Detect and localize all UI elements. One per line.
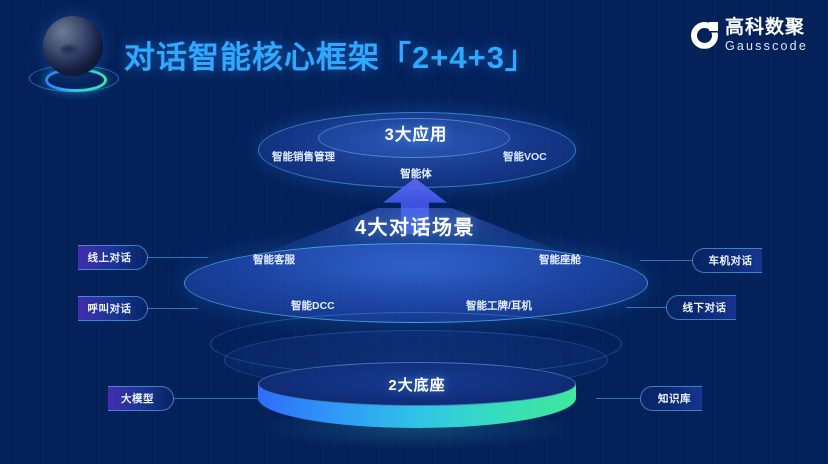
application-item-voc: 智能VOC (503, 149, 547, 164)
side-label-offline-dialog[interactable]: 线下对话 (666, 295, 736, 320)
scenarios-title: 4大对话场景 (184, 211, 646, 240)
side-label-large-model[interactable]: 大模型 (108, 386, 174, 411)
side-label-call-dialog[interactable]: 呼叫对话 (78, 296, 148, 321)
applications-title: 3大应用 (258, 121, 574, 145)
connector-knowledge-base (596, 398, 640, 399)
page-title: 对话智能核心框架「2+4+3」 (124, 32, 537, 77)
agent-label: 智能体 (258, 166, 574, 181)
application-item-sales: 智能销售管理 (272, 149, 335, 164)
connector-online (148, 257, 208, 258)
connector-model (174, 398, 258, 399)
brand-logo: 高科数聚 Gausscode (691, 18, 808, 53)
brand-name-en: Gausscode (725, 40, 808, 53)
foundation-base: 2大底座 (258, 362, 576, 440)
gausscode-mark-icon (691, 22, 718, 49)
slide-canvas: 对话智能核心框架「2+4+3」 高科数聚 Gausscode 3大应用 智能销售… (0, 0, 828, 464)
connector-car (640, 260, 692, 261)
brand-name-cn: 高科数聚 (725, 18, 808, 37)
side-label-knowledge-base[interactable]: 知识库 (640, 386, 702, 411)
side-label-online-dialog[interactable]: 线上对话 (78, 245, 148, 270)
foundation-title: 2大底座 (258, 374, 576, 395)
sphere-body (43, 16, 103, 76)
scenario-item-badge-headset: 智能工牌/耳机 (466, 298, 532, 313)
side-label-car-dialog[interactable]: 车机对话 (692, 248, 762, 273)
scenario-item-customer-service: 智能客服 (253, 252, 295, 267)
connector-call (148, 308, 198, 309)
scenario-item-dcc: 智能DCC (291, 298, 335, 313)
glowing-sphere-icon (27, 13, 119, 99)
connector-offline (626, 307, 666, 308)
scenario-item-cockpit: 智能座舱 (539, 252, 581, 267)
